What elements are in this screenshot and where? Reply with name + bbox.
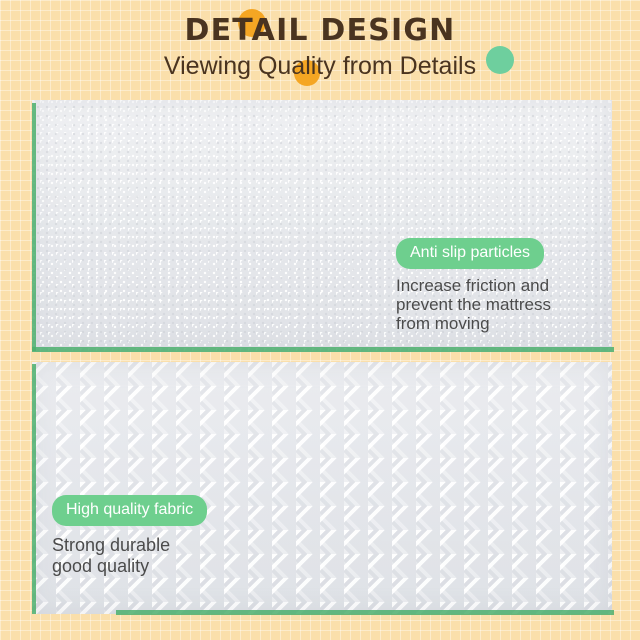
panel-2-accent-bottom (116, 610, 614, 615)
description-anti-slip: Increase friction and prevent the mattre… (396, 276, 606, 333)
page-title: DETAIL DESIGN (185, 12, 456, 50)
description-high-quality-fabric: Strong durable good quality (52, 535, 282, 577)
page-subtitle: Viewing Quality from Details (164, 50, 476, 82)
detail-design-page: DETAIL DESIGN Viewing Quality from Detai… (0, 0, 640, 640)
panel-2-accent-left (32, 364, 36, 614)
page-title-wrap: DETAIL DESIGN (0, 12, 640, 52)
badge-anti-slip-particles: Anti slip particles (396, 238, 544, 269)
header: DETAIL DESIGN Viewing Quality from Detai… (0, 0, 640, 92)
callout-high-quality-fabric: High quality fabric Strong durable good … (52, 495, 282, 577)
panel-1-accent-bottom (32, 347, 614, 352)
decorative-dot-green-subtitle (486, 46, 514, 74)
page-subtitle-wrap: Viewing Quality from Details (0, 50, 640, 86)
badge-high-quality-fabric: High quality fabric (52, 495, 207, 526)
callout-anti-slip: Anti slip particles Increase friction an… (396, 238, 606, 333)
panel-1-accent-left (32, 103, 36, 351)
